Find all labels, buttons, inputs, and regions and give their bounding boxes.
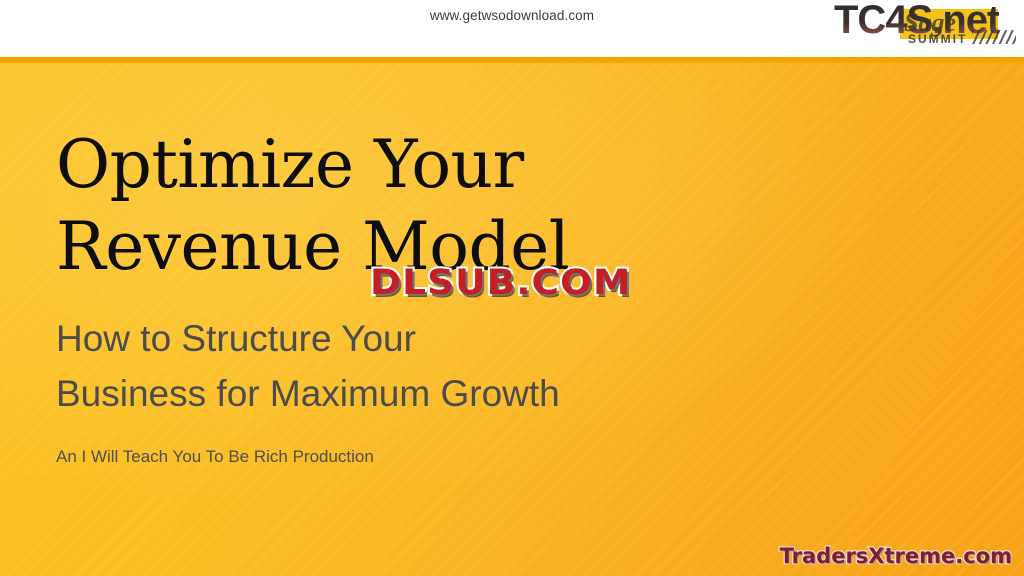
slide-credit-line: An I Will Teach You To Be Rich Productio… xyxy=(56,421,756,467)
dlsub-watermark: DLSUB.COM xyxy=(370,263,631,303)
slide-subtitle: How to Structure Your Business for Maxim… xyxy=(56,288,756,421)
slide-title: Optimize Your Revenue Model xyxy=(56,62,756,288)
site-logo[interactable]: TC4S.net Sage SUMMIT xyxy=(822,0,1022,52)
tradersxtreme-watermark: TradersXtreme.com xyxy=(780,544,1012,568)
presentation-slide: www.getwsodownload.com TC4S.net Sage SUM… xyxy=(0,0,1024,576)
diagonal-hatch-icon xyxy=(972,30,1016,44)
logo-badge-sublabel: SUMMIT xyxy=(908,32,967,46)
